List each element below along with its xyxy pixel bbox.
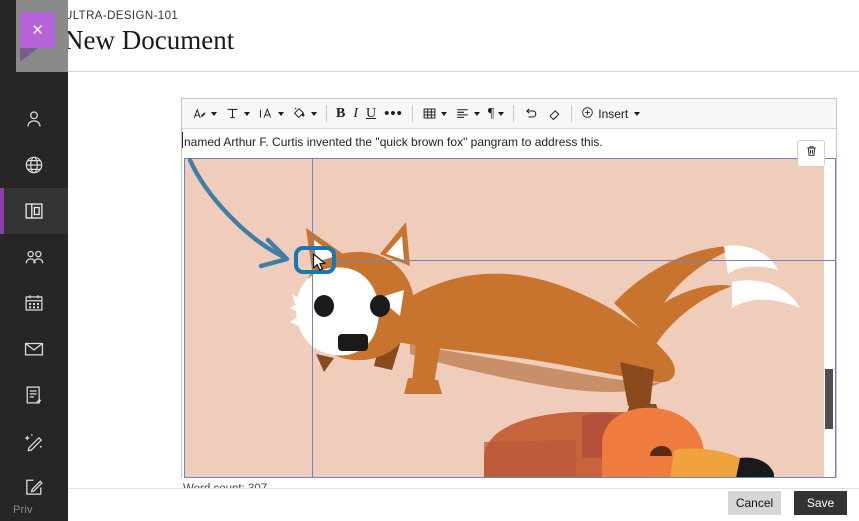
chevron-down-icon [211, 112, 217, 116]
sidebar-item-grades[interactable] [0, 372, 68, 418]
sidebar-dark-strip [0, 0, 16, 72]
sidebar-item-courses[interactable] [0, 188, 68, 234]
chevron-down-icon [474, 112, 480, 116]
paint-bucket-icon [292, 106, 307, 121]
insert-table-button[interactable] [418, 101, 451, 127]
delete-image-button[interactable] [797, 140, 825, 167]
text-format-icon [225, 106, 240, 121]
chevron-down-icon [278, 112, 284, 116]
toolbar-divider [412, 105, 413, 122]
mouse-cursor-icon [312, 253, 329, 277]
chevron-down-icon [441, 112, 447, 116]
pencil-style-icon [192, 106, 207, 121]
toolbar-divider [513, 105, 514, 122]
globe-icon [23, 154, 45, 176]
sparkle-pencil-icon [23, 430, 46, 453]
breadcrumb: ULTRA-DESIGN-101 [64, 10, 178, 22]
trash-icon [805, 144, 818, 163]
sidebar-item-calendar[interactable] [0, 280, 68, 326]
eraser-icon [547, 106, 562, 121]
sidebar-item-messages[interactable] [0, 326, 68, 372]
fox-dog-illustration [184, 158, 824, 478]
chevron-down-icon [311, 112, 317, 116]
more-options-button[interactable]: ••• [380, 101, 407, 127]
font-family-button[interactable] [221, 101, 254, 127]
selection-guide-horizontal [312, 260, 836, 261]
selection-guide-vertical [312, 158, 313, 478]
document-body-text: named Arthur F. Curtis invented the "qui… [184, 135, 603, 149]
plus-circle-icon [581, 106, 594, 122]
sidebar-nav-list [0, 96, 68, 521]
edit-square-icon [23, 476, 45, 498]
insert-button[interactable]: Insert [577, 106, 644, 122]
chevron-down-icon [498, 112, 504, 116]
bold-icon: B [336, 107, 345, 121]
toolbar-divider [326, 105, 327, 122]
ellipsis-icon: ••• [384, 109, 403, 118]
document-editor: B I U ••• [181, 98, 837, 478]
privacy-link[interactable]: Priv [13, 504, 59, 516]
page-title: New Document [64, 25, 234, 56]
text-caret [182, 132, 183, 148]
paragraph-button[interactable]: ¶ [484, 101, 508, 127]
footer-bar: Cancel Save [68, 488, 859, 521]
bold-button[interactable]: B [332, 101, 349, 127]
image-scrollbar-thumb[interactable] [825, 369, 833, 429]
clear-formatting-button[interactable] [543, 101, 566, 127]
editor-toolbar: B I U ••• [182, 99, 836, 129]
table-icon [422, 106, 437, 121]
sidebar-item-tools[interactable] [0, 418, 68, 464]
toolbar-divider [571, 105, 572, 122]
close-button[interactable]: × [20, 12, 55, 48]
cancel-button[interactable]: Cancel [728, 491, 781, 515]
underline-icon: U [366, 106, 376, 122]
align-button[interactable] [451, 101, 484, 127]
font-size-icon [258, 106, 274, 121]
image-scrollbar-track[interactable] [824, 158, 833, 478]
app-root: Priv × ULTRA-DESIGN-101 New Document [0, 0, 859, 521]
calendar-icon [23, 292, 45, 314]
font-size-button[interactable] [254, 101, 288, 127]
sidebar-item-institution-page[interactable] [0, 142, 68, 188]
people-icon [23, 246, 46, 269]
chevron-down-icon [634, 112, 640, 116]
envelope-icon [23, 338, 45, 360]
undo-icon [523, 106, 539, 121]
sidebar-item-organizations[interactable] [0, 234, 68, 280]
document-image[interactable] [184, 158, 824, 478]
chevron-down-icon [244, 112, 250, 116]
text-color-button[interactable] [288, 101, 321, 127]
pilcrow-icon: ¶ [488, 106, 494, 122]
document-canvas[interactable]: named Arthur F. Curtis invented the "qui… [182, 129, 836, 478]
align-left-icon [455, 106, 470, 121]
person-icon [23, 108, 45, 130]
italic-icon: I [353, 106, 358, 122]
insert-label: Insert [598, 107, 628, 121]
page-header: ULTRA-DESIGN-101 New Document [68, 0, 859, 72]
underline-button[interactable]: U [362, 101, 380, 127]
book-icon [23, 200, 45, 222]
save-button[interactable]: Save [794, 491, 847, 515]
italic-button[interactable]: I [349, 101, 362, 127]
text-style-button[interactable] [188, 101, 221, 127]
document-icon [23, 384, 45, 406]
left-sidebar: Priv [0, 0, 68, 521]
sidebar-item-profile[interactable] [0, 96, 68, 142]
undo-button[interactable] [519, 101, 543, 127]
close-icon: × [32, 21, 43, 40]
